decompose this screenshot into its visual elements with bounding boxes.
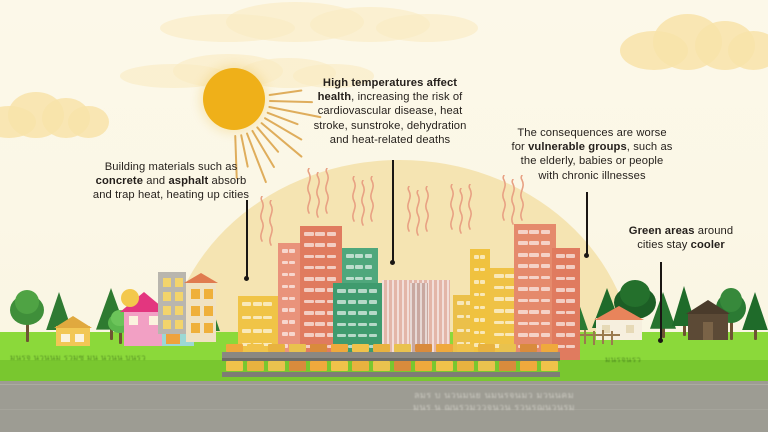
annotation-emphasis: vulnerable groups [528,141,627,153]
annotation-text: cardiovascular disease, heat [318,105,463,117]
annotation-text: cities stay [637,239,690,251]
heat-wave [314,172,323,218]
annotation-text: , increasing the risk of [351,91,462,103]
road-caption-line-2: มนร น ฌนรวมววจนวน รวนรฌนวนรม [234,402,754,414]
house-yellow [56,316,90,346]
annotation-emphasis: High temperatures affect [323,77,457,89]
annotation-text: , such as [627,141,673,153]
annotation-text: The consequences are worse [517,127,666,139]
viaduct-panel [373,361,390,371]
viaduct-panel [268,361,285,371]
window [61,334,70,342]
cloud-1 [620,14,768,70]
annotation-text: the elderly, babies or people [521,155,664,167]
annotation-emphasis: concrete [96,175,143,187]
barn-door [703,322,713,340]
apartment-grey [158,272,186,334]
viaduct-panel [499,361,516,371]
viaduct-panel [457,344,474,352]
annotation-text: and [143,175,168,187]
tree-left-1 [10,290,44,342]
viaduct-panel [478,344,495,352]
viaduct-panel [352,344,369,352]
annotation-line: High temperatures affect [292,76,488,90]
heat-wave [466,184,475,230]
heat-wave [323,168,332,214]
window [191,306,200,316]
window [175,306,183,315]
viaduct-panel [394,344,411,352]
annotation-line: Building materials such as [78,160,264,174]
annotation-text: for [512,141,529,153]
window [204,323,213,333]
heat-wave [305,168,314,214]
heat-wave [509,179,518,225]
viaduct-panel [457,361,474,371]
heat-wave [423,186,432,232]
annotation-line: Green areas around [598,224,764,238]
viaduct-panel [310,361,327,371]
road-edge-line [0,384,768,385]
field-caption-right: มนรจนรว [605,353,641,366]
window [163,320,171,329]
sun-disc [203,68,265,130]
annotation-emphasis: cooler [691,239,725,251]
leader-building-materials [246,200,248,278]
viaduct-panel [352,361,369,371]
tree-right-6 [742,292,768,340]
window [175,320,183,329]
heat-wave [258,196,267,242]
leader-green-areas [660,262,662,340]
viaduct-panel [247,344,264,352]
annotation-text: stroke, sunstroke, dehydration [314,120,467,132]
viaduct-panel [478,361,495,371]
window [163,278,171,287]
barn [688,300,728,340]
viaduct-panel [310,344,327,352]
window [163,292,171,301]
window [163,306,171,315]
field-caption-left: มนรจ นวนนม รวมซ มน นวนน บนรว [10,351,146,364]
window [191,323,200,333]
annotation-line: The consequences are worse [494,126,690,140]
window [626,325,634,333]
window [129,316,138,325]
heat-wave [457,188,466,234]
leader-high-temperatures [392,160,394,262]
annotation-line: cardiovascular disease, heat [292,104,488,118]
leader-vulnerable-groups [586,192,588,255]
viaduct-panel [415,344,432,352]
fence-post [584,330,586,344]
viaduct-panel [520,344,537,352]
annotation-vulnerable-groups: The consequences are worsefor vulnerable… [494,126,690,183]
window [149,316,158,325]
annotation-line: and heat-related deaths [292,133,488,147]
small-sun [121,289,139,307]
window [204,289,213,299]
viaduct-panel [541,361,558,371]
annotation-line: for vulnerable groups, such as [494,140,690,154]
viaduct-panel [226,361,243,371]
viaduct-panel [226,344,243,352]
viaduct-panel [520,361,537,371]
viaduct-deck-bottom [222,372,560,377]
viaduct-panel [541,344,558,352]
annotation-text: with chronic illnesses [538,170,645,182]
annotation-text: Building materials such as [105,161,238,173]
annotation-line: cities stay cooler [598,238,764,252]
viaduct-panel [499,344,516,352]
window [191,289,200,299]
window [75,334,84,342]
annotation-line: with chronic illnesses [494,169,690,183]
annotation-line: and trap heat, heating up cities [78,188,264,202]
annotation-line: health, increasing the risk of [292,90,488,104]
window [175,278,183,287]
heat-wave [267,200,276,246]
annotation-emphasis: asphalt [168,175,208,187]
viaduct-panel [289,361,306,371]
viaduct-panel [394,361,411,371]
window [175,292,183,301]
viaduct-panel [268,344,285,352]
road-caption-line-1: ลมร บ นวนมนย นมนรจนมว มวนนคม [234,390,754,402]
annotation-text: and heat-related deaths [330,134,450,146]
viaduct-panel [373,344,390,352]
viaduct-beam [222,358,560,361]
heat-wave [414,190,423,236]
heat-wave [350,176,359,222]
annotation-building-materials: Building materials such asconcrete and a… [78,160,264,203]
annotation-high-temperatures: High temperatures affecthealth, increasi… [292,76,488,147]
viaduct-panel [331,361,348,371]
viaduct-panel [436,361,453,371]
viaduct-panel [247,361,264,371]
window [204,306,213,316]
cloud-2 [160,2,460,42]
apartment-cream [186,282,216,342]
annotation-green-areas: Green areas aroundcities stay cooler [598,224,764,252]
building-coral-right-tall [514,224,556,360]
heat-wave [359,180,368,226]
annotation-text: absorb [208,175,246,187]
annotation-line: concrete and asphalt absorb [78,174,264,188]
annotation-text: around [695,225,734,237]
viaduct-panel [436,344,453,352]
annotation-emphasis: health [318,91,352,103]
annotation-text: and trap heat, heating up cities [93,189,249,201]
heat-wave [405,186,414,232]
viaduct-panel [289,344,306,352]
cloud-0 [0,92,102,138]
heat-wave [448,184,457,230]
annotation-line: the elderly, babies or people [494,154,690,168]
heat-wave [368,176,377,222]
annotation-emphasis: Green areas [629,225,695,237]
fence-post [602,330,604,344]
annotation-line: stroke, sunstroke, dehydration [292,119,488,133]
building-coral-tower-left [278,243,300,360]
infographic-canvas: มนรจ นวนนม รวมซ มน นวนน บนรว มนรจนรว ลมร… [0,0,768,432]
viaduct-panel [415,361,432,371]
viaduct-panel [331,344,348,352]
